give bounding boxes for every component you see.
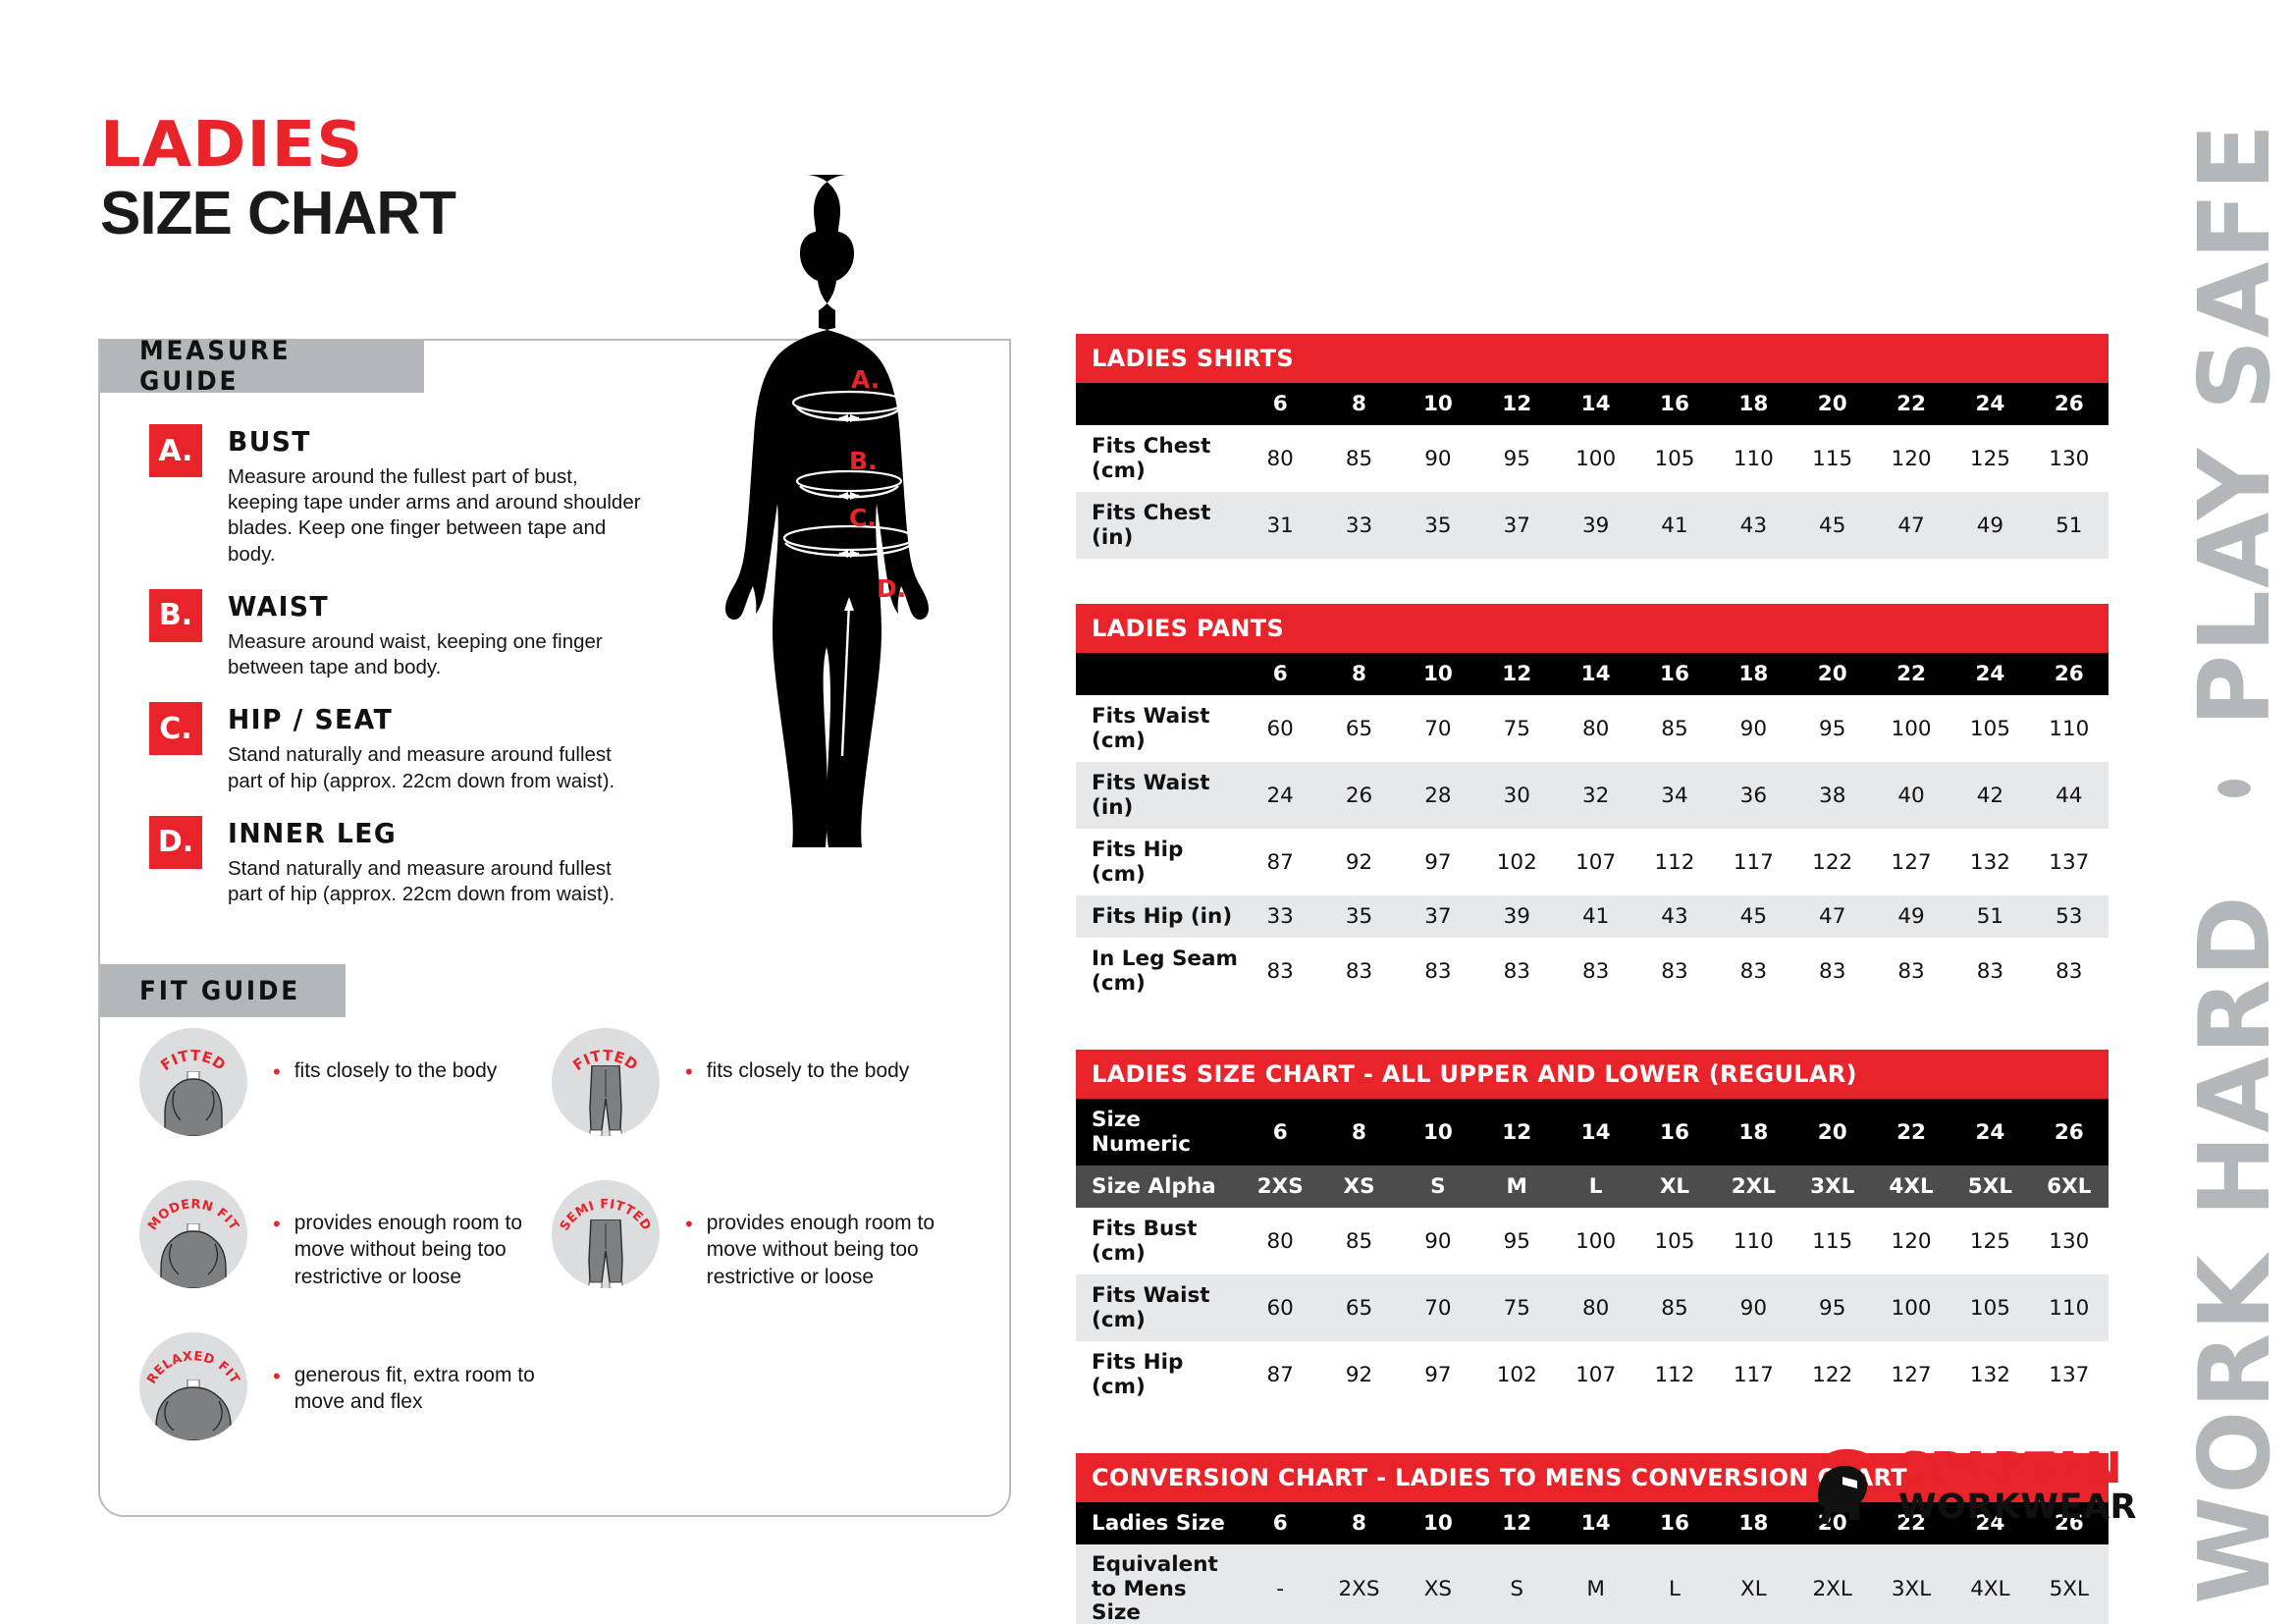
row-label: Fits Chest (in): [1076, 492, 1241, 559]
relaxed-fit-description: generous fit, extra room to move and fle…: [294, 1362, 540, 1416]
size-header: 20: [1793, 383, 1872, 425]
fitted-top-description: fits closely to the body: [294, 1057, 498, 1084]
spartan-helmet-icon: [1798, 1441, 1889, 1532]
cell: 92: [1319, 1341, 1398, 1408]
size-header: 18: [1714, 653, 1792, 695]
cell: 33: [1319, 492, 1398, 559]
cell: XL: [1714, 1544, 1792, 1624]
table-row: Fits Waist (cm) 60 65 70 75 80 85 90 95 …: [1076, 695, 2109, 762]
cell: 31: [1241, 492, 1319, 559]
female-silhouette-diagram: A. B. C. D.: [687, 167, 1011, 918]
cell: 122: [1793, 829, 1872, 895]
cell: 70: [1399, 1274, 1477, 1341]
cell: 105: [1635, 1208, 1714, 1274]
cell: 53: [2030, 895, 2109, 938]
cell: 60: [1241, 1274, 1319, 1341]
table-row: Fits Hip (cm) 87 92 97 102 107 112 117 1…: [1076, 829, 2109, 895]
slogan-work-hard: WORK HARD: [2177, 893, 2292, 1604]
cell: 87: [1241, 1341, 1319, 1408]
size-header: 6: [1241, 1099, 1319, 1165]
cell: 132: [1950, 829, 2029, 895]
size-header: 22: [1872, 383, 1950, 425]
cell: 120: [1872, 425, 1950, 492]
row-label: Fits Chest (cm): [1076, 425, 1241, 492]
cell: 45: [1714, 895, 1792, 938]
cell: 83: [1793, 938, 1872, 1004]
table-header-row: 6 8 10 12 14 16 18 20 22 24 26: [1076, 383, 2109, 425]
row-label: Fits Hip (cm): [1076, 1341, 1241, 1408]
cell: 122: [1793, 1341, 1872, 1408]
cell: 85: [1635, 695, 1714, 762]
size-header: 6: [1241, 1502, 1319, 1544]
fit-guide-tops-column: FITTED • fits closely to the body: [139, 1028, 540, 1485]
cell: 28: [1399, 762, 1477, 829]
cell: 100: [1872, 1274, 1950, 1341]
alpha-cell: 2XS: [1241, 1165, 1319, 1208]
alpha-cell: S: [1399, 1165, 1477, 1208]
size-header: 26: [2030, 653, 2109, 695]
fitted-bottom-badge-icon: FITTED: [552, 1028, 660, 1136]
cell: 43: [1635, 895, 1714, 938]
measure-guide-tab: MEASURE GUIDE: [100, 340, 424, 393]
table-row: Fits Waist (in) 24 26 28 30 32 34 36 38 …: [1076, 762, 2109, 829]
row-label: In Leg Seam (cm): [1076, 938, 1241, 1004]
logo-sub-text: WORKWEAR: [1898, 1492, 2137, 1523]
cell: 51: [1950, 895, 2029, 938]
cell: 90: [1714, 695, 1792, 762]
cell: 110: [1714, 425, 1792, 492]
measure-desc-hip-seat: Stand naturally and measure around fulle…: [228, 742, 650, 793]
relaxed-fit-badge-icon: RELAXED FIT: [139, 1332, 247, 1440]
cell: 83: [1950, 938, 2029, 1004]
letter-badge-b: B.: [149, 589, 202, 642]
cell: 45: [1793, 492, 1872, 559]
cell: 110: [2030, 695, 2109, 762]
measure-item-bust: A. BUST Measure around the fullest part …: [149, 424, 699, 568]
fit-guide-bottoms-column: FITTED • fits closely to the body: [552, 1028, 952, 1332]
cell: 41: [1635, 492, 1714, 559]
cell: 105: [1950, 1274, 2029, 1341]
shirt-icon: [155, 1223, 232, 1288]
table-row: Fits Hip (in) 33 35 37 39 41 43 45 47 49…: [1076, 895, 2109, 938]
semi-fitted-badge-icon: SEMI FITTED: [552, 1180, 660, 1288]
cell: 90: [1714, 1274, 1792, 1341]
size-header: 20: [1793, 653, 1872, 695]
size-header: 18: [1714, 383, 1792, 425]
size-header: 26: [2030, 1099, 2109, 1165]
cell: 42: [1950, 762, 2029, 829]
cell: 2XL: [1793, 1544, 1872, 1624]
alpha-cell: 4XL: [1872, 1165, 1950, 1208]
bullet-icon: •: [685, 1210, 693, 1290]
cell: 33: [1241, 895, 1319, 938]
cell: 24: [1241, 762, 1319, 829]
measure-item-hip-seat: C. HIP / SEAT Stand naturally and measur…: [149, 702, 699, 793]
row-label: Equivalent to Mens Size: [1076, 1544, 1241, 1624]
bullet-icon: •: [685, 1057, 693, 1084]
measure-desc-inner-leg: Stand naturally and measure around fulle…: [228, 856, 650, 907]
size-header: 14: [1556, 383, 1634, 425]
size-header: 12: [1477, 1099, 1556, 1165]
cell: 130: [2030, 1208, 2109, 1274]
size-header: 14: [1556, 1099, 1634, 1165]
header-row-label: [1076, 653, 1241, 695]
cell: 105: [1635, 425, 1714, 492]
silhouette-marker-c: C.: [849, 504, 877, 532]
shirt-icon: [157, 1071, 230, 1136]
cell: 127: [1872, 1341, 1950, 1408]
cell: 95: [1477, 425, 1556, 492]
fitted-bottom-description: fits closely to the body: [707, 1057, 910, 1084]
cell: 83: [1399, 938, 1477, 1004]
fit-row-relaxed-fit: RELAXED FIT • generous fit, extra room t…: [139, 1332, 540, 1453]
cell: 30: [1477, 762, 1556, 829]
size-header: 14: [1556, 653, 1634, 695]
cell: 75: [1477, 695, 1556, 762]
cell: 60: [1241, 695, 1319, 762]
cell: 83: [1714, 938, 1792, 1004]
size-header: 12: [1477, 653, 1556, 695]
size-header: 24: [1950, 653, 2029, 695]
row-label: Fits Bust (cm): [1076, 1208, 1241, 1274]
cell: 90: [1399, 1208, 1477, 1274]
cell: 34: [1635, 762, 1714, 829]
size-header: 16: [1635, 1099, 1714, 1165]
table-row: In Leg Seam (cm) 83 83 83 83 83 83 83 83…: [1076, 938, 2109, 1004]
semi-fitted-description: provides enough room to move without bei…: [707, 1210, 952, 1290]
row-label: Fits Waist (cm): [1076, 695, 1241, 762]
cell: 117: [1714, 1341, 1792, 1408]
cell: 65: [1319, 1274, 1398, 1341]
size-header: 8: [1319, 383, 1398, 425]
silhouette-marker-a: A.: [851, 365, 880, 394]
size-header: 12: [1477, 1502, 1556, 1544]
row-label: Fits Hip (in): [1076, 895, 1241, 938]
measure-guide-tab-label: MEASURE GUIDE: [139, 336, 378, 397]
cell: 32: [1556, 762, 1634, 829]
size-header: 18: [1714, 1502, 1792, 1544]
cell: 65: [1319, 695, 1398, 762]
letter-badge-a: A.: [149, 424, 202, 477]
cell: 83: [1241, 938, 1319, 1004]
cell: 80: [1556, 1274, 1634, 1341]
fit-row-fitted-top: FITTED • fits closely to the body: [139, 1028, 540, 1149]
cell: 85: [1319, 425, 1398, 492]
size-tables-container: LADIES SHIRTS 6 8 10 12 14 16 18 20 22 2…: [1076, 334, 2109, 1624]
cell: 112: [1635, 1341, 1714, 1408]
table-title-row: LADIES SIZE CHART - ALL UPPER AND LOWER …: [1076, 1050, 2109, 1099]
row-label: Fits Hip (cm): [1076, 829, 1241, 895]
cell: L: [1635, 1544, 1714, 1624]
measure-desc-waist: Measure around waist, keeping one finger…: [228, 629, 650, 680]
table-title-size-chart-regular: LADIES SIZE CHART - ALL UPPER AND LOWER …: [1076, 1050, 2109, 1099]
size-header: 12: [1477, 383, 1556, 425]
fit-guide-tab: FIT GUIDE: [100, 964, 346, 1017]
cell: 80: [1241, 1208, 1319, 1274]
alpha-cell: 3XL: [1793, 1165, 1872, 1208]
row-label: Fits Waist (in): [1076, 762, 1241, 829]
size-header: 16: [1635, 653, 1714, 695]
cell: 85: [1319, 1208, 1398, 1274]
slogan-play-safe: PLAY SAFE: [2177, 122, 2292, 727]
cell: 35: [1319, 895, 1398, 938]
cell: 102: [1477, 829, 1556, 895]
cell: 37: [1399, 895, 1477, 938]
cell: 130: [2030, 425, 2109, 492]
size-header: 20: [1793, 1099, 1872, 1165]
header-row-label-ladies-size: Ladies Size: [1076, 1502, 1241, 1544]
size-header: 8: [1319, 653, 1398, 695]
size-header: 8: [1319, 1502, 1398, 1544]
cell: 26: [1319, 762, 1398, 829]
alpha-cell: XS: [1319, 1165, 1398, 1208]
size-header: 10: [1399, 653, 1477, 695]
cell: 107: [1556, 1341, 1634, 1408]
cell: 137: [2030, 829, 2109, 895]
cell: 117: [1714, 829, 1792, 895]
size-header: 22: [1872, 1099, 1950, 1165]
size-header: 24: [1950, 383, 2029, 425]
cell: 2XS: [1319, 1544, 1398, 1624]
size-chart-page: LADIES SIZE CHART MEASURE GUIDE A. BUST …: [0, 0, 2296, 1624]
cell: 70: [1399, 695, 1477, 762]
cell: 37: [1477, 492, 1556, 559]
table-title-row: LADIES PANTS: [1076, 604, 2109, 653]
table-row: Fits Waist (cm) 60 65 70 75 80 85 90 95 …: [1076, 1274, 2109, 1341]
cell: 100: [1872, 695, 1950, 762]
table-row: Fits Hip (cm) 87 92 97 102 107 112 117 1…: [1076, 1341, 2109, 1408]
table-title-ladies-pants: LADIES PANTS: [1076, 604, 2109, 653]
cell: 95: [1793, 695, 1872, 762]
cell: 39: [1556, 492, 1634, 559]
size-header: 24: [1950, 1099, 2029, 1165]
slogan-svg: WORK HARD PLAY SAFE: [2139, 0, 2296, 1624]
cell: 36: [1714, 762, 1792, 829]
size-header: 16: [1635, 1502, 1714, 1544]
measure-guide-list: A. BUST Measure around the fullest part …: [149, 424, 699, 929]
measure-name-inner-leg: INNER LEG: [228, 817, 629, 849]
cell: 35: [1399, 492, 1477, 559]
vertical-slogan: WORK HARD PLAY SAFE: [2139, 0, 2296, 1624]
cell: 110: [2030, 1274, 2109, 1341]
svg-text:FITTED: FITTED: [157, 1047, 229, 1074]
fit-row-fitted-bottom: FITTED • fits closely to the body: [552, 1028, 952, 1149]
cell: 40: [1872, 762, 1950, 829]
cell: 83: [1477, 938, 1556, 1004]
cell: 87: [1241, 829, 1319, 895]
cell: 3XL: [1872, 1544, 1950, 1624]
row-label: Fits Waist (cm): [1076, 1274, 1241, 1341]
cell: 80: [1556, 695, 1634, 762]
cell: 83: [1635, 938, 1714, 1004]
measure-name-hip-seat: HIP / SEAT: [228, 703, 629, 735]
cell: 110: [1714, 1208, 1792, 1274]
cell: 83: [2030, 938, 2109, 1004]
bullet-icon: •: [273, 1210, 281, 1290]
cell: 90: [1399, 425, 1477, 492]
cell: 127: [1872, 829, 1950, 895]
pants-icon: [579, 1219, 632, 1288]
cell: 107: [1556, 829, 1634, 895]
cell: 120: [1872, 1208, 1950, 1274]
silhouette-icon: [687, 167, 1011, 913]
cell: 125: [1950, 1208, 2029, 1274]
fitted-top-badge-icon: FITTED: [139, 1028, 247, 1136]
alpha-cell: 5XL: [1950, 1165, 2029, 1208]
table-title-ladies-shirts: LADIES SHIRTS: [1076, 334, 2109, 383]
table-row: Fits Bust (cm) 80 85 90 95 100 105 110 1…: [1076, 1208, 2109, 1274]
bullet-icon: •: [273, 1057, 281, 1084]
size-header: 14: [1556, 1502, 1634, 1544]
cell: M: [1556, 1544, 1634, 1624]
cell: 105: [1950, 695, 2029, 762]
page-title: LADIES SIZE CHART: [100, 116, 455, 245]
fit-row-semi-fitted: SEMI FITTED • provides enough room to mo…: [552, 1180, 952, 1301]
cell: 92: [1319, 829, 1398, 895]
modern-fit-badge-icon: MODERN FIT: [139, 1180, 247, 1288]
table-alpha-row: Size Alpha 2XS XS S M L XL 2XL 3XL 4XL 5…: [1076, 1165, 2109, 1208]
size-header: 22: [1872, 653, 1950, 695]
slogan-separator-dot: [2217, 780, 2251, 797]
shirt-icon: [152, 1380, 235, 1440]
cell: 49: [1872, 895, 1950, 938]
size-header: 10: [1399, 383, 1477, 425]
cell: 80: [1241, 425, 1319, 492]
table-row: Fits Chest (in) 31 33 35 37 39 41 43 45 …: [1076, 492, 2109, 559]
cell: 83: [1556, 938, 1634, 1004]
alpha-cell: 6XL: [2030, 1165, 2109, 1208]
size-header: 16: [1635, 383, 1714, 425]
cell: 112: [1635, 829, 1714, 895]
table-row: Equivalent to Mens Size - 2XS XS S M L X…: [1076, 1544, 2109, 1624]
fitted-top-badge-label: FITTED: [157, 1047, 229, 1074]
measure-name-waist: WAIST: [228, 590, 629, 623]
title-size-chart: SIZE CHART: [100, 182, 455, 245]
pants-icon: [581, 1065, 630, 1136]
size-header: 6: [1241, 383, 1319, 425]
cell: -: [1241, 1544, 1319, 1624]
cell: 4XL: [1950, 1544, 2029, 1624]
cell: 39: [1477, 895, 1556, 938]
cell: 38: [1793, 762, 1872, 829]
table-header-row: 6 8 10 12 14 16 18 20 22 24 26: [1076, 653, 2109, 695]
measure-desc-bust: Measure around the fullest part of bust,…: [228, 464, 650, 568]
cell: 43: [1714, 492, 1792, 559]
spartan-workwear-logo: SPARTAN WORKWEAR: [1798, 1441, 2137, 1532]
silhouette-marker-d: D.: [877, 574, 906, 603]
cell: 47: [1872, 492, 1950, 559]
cell: 47: [1793, 895, 1872, 938]
table-ladies-pants: LADIES PANTS 6 8 10 12 14 16 18 20 22 24…: [1076, 604, 2109, 1004]
alpha-cell: XL: [1635, 1165, 1714, 1208]
cell: XS: [1399, 1544, 1477, 1624]
cell: 49: [1950, 492, 2029, 559]
cell: 97: [1399, 829, 1477, 895]
cell: 41: [1556, 895, 1634, 938]
measure-item-waist: B. WAIST Measure around waist, keeping o…: [149, 589, 699, 680]
fit-guide-tab-label: FIT GUIDE: [139, 976, 300, 1006]
modern-fit-description: provides enough room to move without bei…: [294, 1210, 540, 1290]
alpha-cell: 2XL: [1714, 1165, 1792, 1208]
table-ladies-shirts: LADIES SHIRTS 6 8 10 12 14 16 18 20 22 2…: [1076, 334, 2109, 559]
size-header: 18: [1714, 1099, 1792, 1165]
size-header: 6: [1241, 653, 1319, 695]
cell: 115: [1793, 1208, 1872, 1274]
cell: 132: [1950, 1341, 2029, 1408]
cell: 83: [1319, 938, 1398, 1004]
cell: 95: [1793, 1274, 1872, 1341]
silhouette-marker-b: B.: [849, 447, 878, 475]
measure-item-inner-leg: D. INNER LEG Stand naturally and measure…: [149, 816, 699, 907]
row-label-size-alpha: Size Alpha: [1076, 1165, 1241, 1208]
fit-row-modern-fit: MODERN FIT • provides enough room to mov…: [139, 1180, 540, 1301]
cell: 51: [2030, 492, 2109, 559]
size-header: 10: [1399, 1099, 1477, 1165]
cell: 44: [2030, 762, 2109, 829]
bullet-icon: •: [273, 1362, 281, 1416]
cell: 97: [1399, 1341, 1477, 1408]
alpha-cell: M: [1477, 1165, 1556, 1208]
header-row-label-size-numeric: Size Numeric: [1076, 1099, 1241, 1165]
logo-brand-text: SPARTAN: [1898, 1450, 2142, 1489]
alpha-cell: L: [1556, 1165, 1634, 1208]
size-header: 8: [1319, 1099, 1398, 1165]
cell: 125: [1950, 425, 2029, 492]
cell: 100: [1556, 425, 1634, 492]
cell: 100: [1556, 1208, 1634, 1274]
cell: S: [1477, 1544, 1556, 1624]
table-title-row: LADIES SHIRTS: [1076, 334, 2109, 383]
cell: 83: [1872, 938, 1950, 1004]
table-ladies-size-chart-regular: LADIES SIZE CHART - ALL UPPER AND LOWER …: [1076, 1050, 2109, 1408]
size-header: 10: [1399, 1502, 1477, 1544]
measure-name-bust: BUST: [228, 425, 629, 458]
title-ladies: LADIES: [100, 116, 462, 176]
letter-badge-c: C.: [149, 702, 202, 755]
cell: 137: [2030, 1341, 2109, 1408]
cell: 115: [1793, 425, 1872, 492]
cell: 95: [1477, 1208, 1556, 1274]
table-header-row: Size Numeric 6 8 10 12 14 16 18 20 22 24…: [1076, 1099, 2109, 1165]
cell: 85: [1635, 1274, 1714, 1341]
header-row-label: [1076, 383, 1241, 425]
cell: 5XL: [2030, 1544, 2109, 1624]
cell: 102: [1477, 1341, 1556, 1408]
cell: 75: [1477, 1274, 1556, 1341]
table-row: Fits Chest (cm) 80 85 90 95 100 105 110 …: [1076, 425, 2109, 492]
size-header: 26: [2030, 383, 2109, 425]
letter-badge-d: D.: [149, 816, 202, 869]
